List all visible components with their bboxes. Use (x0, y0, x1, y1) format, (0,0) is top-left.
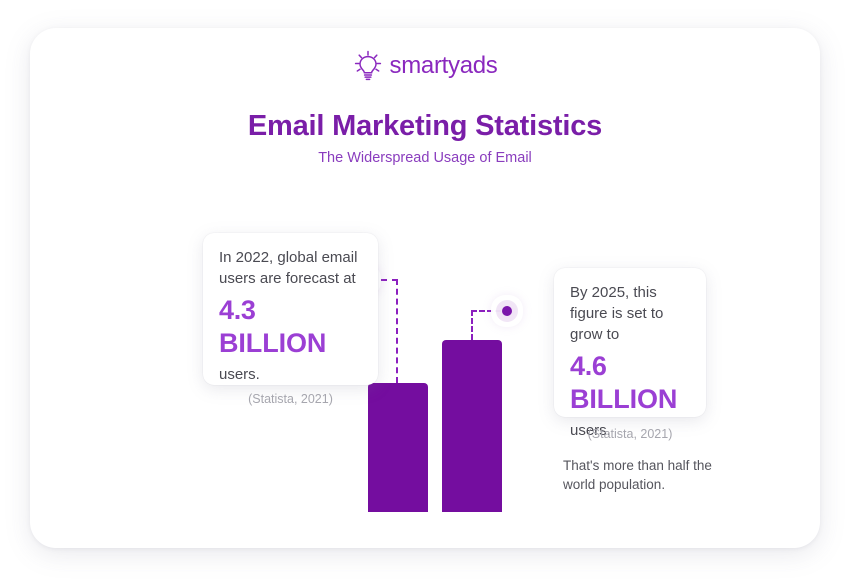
callout-card-2022: In 2022, global email users are forecast… (203, 233, 378, 385)
callout-card-2025: By 2025, this figure is set to grow to 4… (554, 268, 706, 417)
connector-dot-2025 (502, 306, 512, 316)
brand-logo: smartyads (30, 50, 820, 82)
connector-line-2025-vertical (471, 310, 473, 340)
connector-line-2025-horizontal (471, 310, 501, 312)
callout-tail-2022: users. (219, 364, 362, 385)
page-title: Email Marketing Statistics (30, 110, 820, 143)
world-population-note: That's more than half the world populati… (563, 456, 728, 494)
citation-2025: (Statista, 2021) (554, 427, 706, 441)
callout-figure-2025: 4.6 (570, 350, 690, 383)
brand-name: smartyads (390, 52, 498, 80)
callout-unit-2022: BILLION (219, 327, 362, 360)
callout-lead-2022: In 2022, global email users are forecast… (219, 247, 362, 289)
bar-2025 (442, 340, 502, 512)
lightbulb-icon (353, 50, 383, 82)
citation-2022: (Statista, 2021) (203, 392, 378, 406)
callout-lead-2025: By 2025, this figure is set to grow to (570, 282, 690, 345)
page-subtitle: The Widerspread Usage of Email (30, 150, 820, 166)
infographic-card: smartyads Email Marketing Statistics The… (30, 28, 820, 548)
connector-line-2022-vertical (396, 279, 398, 383)
callout-unit-2025: BILLION (570, 383, 690, 416)
callout-figure-2022: 4.3 (219, 294, 362, 327)
